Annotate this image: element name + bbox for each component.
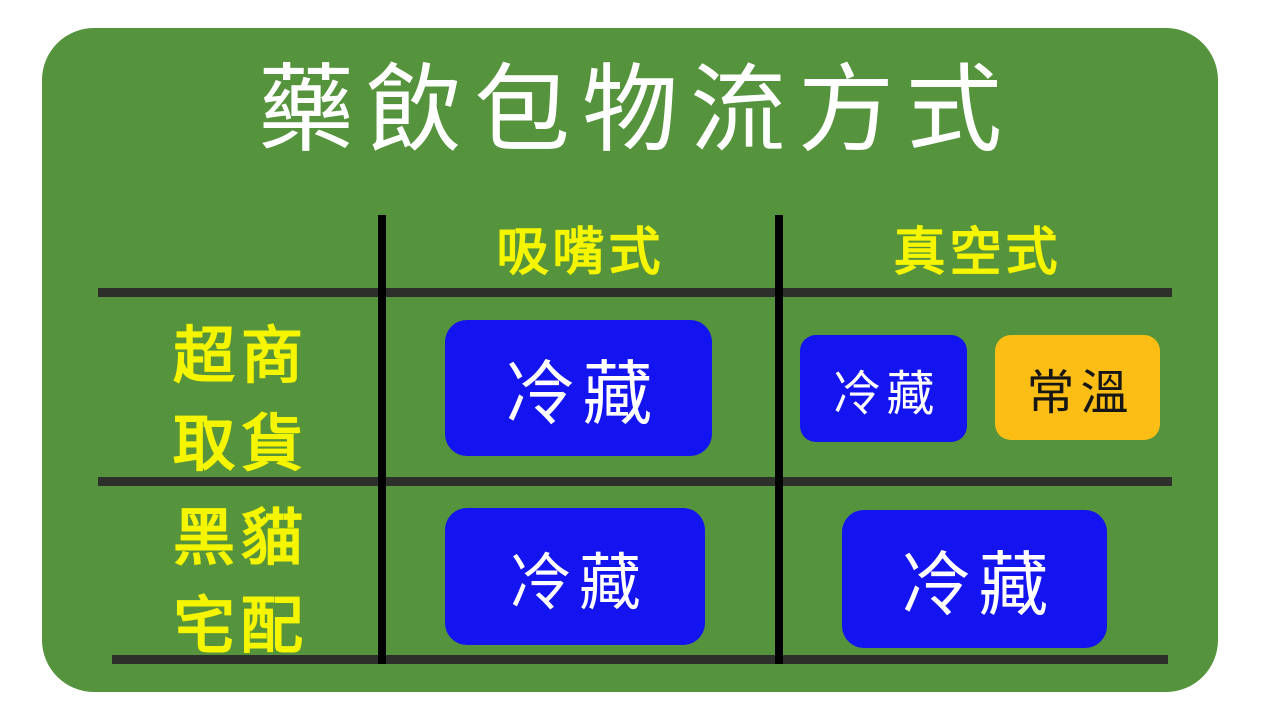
- column-header-vacuum: 真空式: [783, 220, 1172, 286]
- row-header-convenience-store-pickup: 超商 取貨: [98, 312, 378, 488]
- row-header-line: 超商: [98, 312, 378, 400]
- row-header-line: 宅配: [98, 582, 378, 670]
- slide-canvas: 藥飲包物流方式 吸嘴式 真空式 超商 取貨 黑貓 宅配 冷藏 冷藏 常: [0, 0, 1280, 720]
- column-divider-line-1: [378, 215, 386, 664]
- row-header-black-cat-delivery: 黑貓 宅配: [98, 494, 378, 670]
- row-header-line: 黑貓: [98, 494, 378, 582]
- badge-cold-store-suction: 冷藏: [445, 320, 712, 456]
- column-header-suction: 吸嘴式: [386, 220, 775, 286]
- row-header-line: 取貨: [98, 400, 378, 488]
- header-divider-line: [98, 288, 1172, 297]
- badge-cold-delivery-suction: 冷藏: [445, 508, 705, 645]
- column-divider-line-2: [775, 215, 783, 664]
- logistics-matrix-table: 吸嘴式 真空式 超商 取貨 黑貓 宅配 冷藏 冷藏 常溫 冷藏 冷藏: [42, 28, 1218, 692]
- badge-ambient-store-vacuum: 常溫: [995, 335, 1160, 440]
- badge-cold-store-vacuum: 冷藏: [800, 335, 967, 442]
- content-card: 藥飲包物流方式 吸嘴式 真空式 超商 取貨 黑貓 宅配 冷藏 冷藏 常: [42, 28, 1218, 692]
- badge-cold-delivery-vacuum: 冷藏: [842, 510, 1107, 648]
